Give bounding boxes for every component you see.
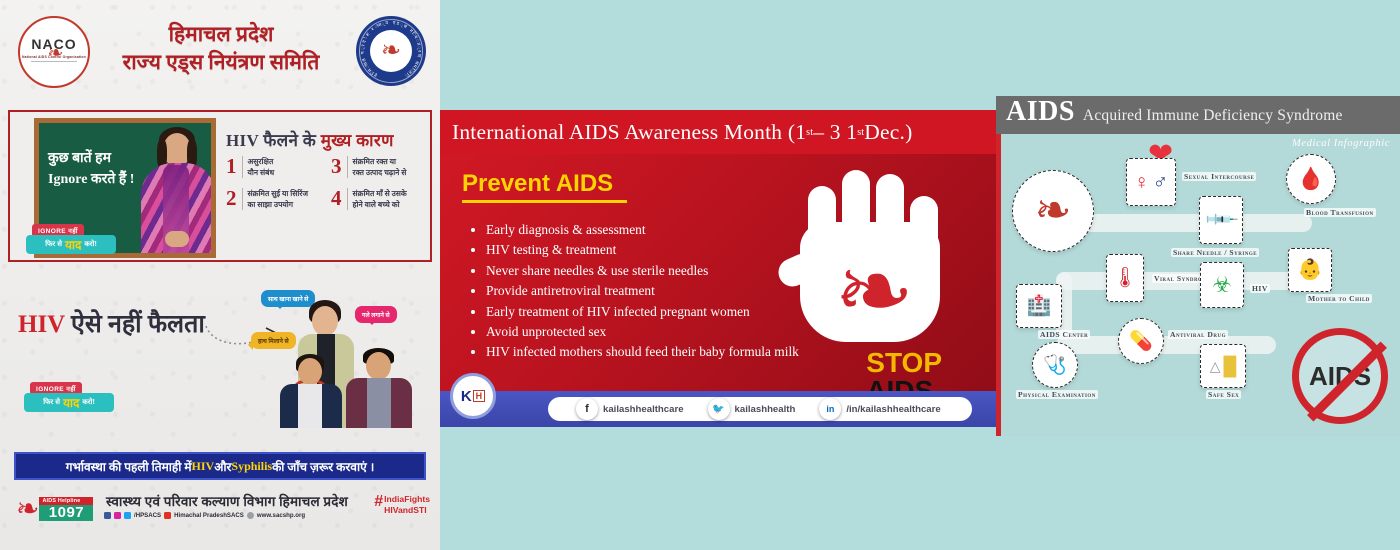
hashtag-line1: IndiaFights [384,494,430,504]
thermometer-icon: 🌡 [1106,254,1144,302]
right-poster-header: AIDS Acquired Immune Deficiency Syndrome [996,96,1400,134]
website-icon[interactable] [247,512,254,519]
label-safe-sex: Safe Sex [1206,390,1241,399]
person-boy-left [280,356,342,428]
kh-logo-k: K [461,388,472,405]
ignore-badge-2-pre: फिर से [43,398,60,407]
center-poster-title: International AIDS Awareness Month (1st … [440,110,1000,154]
myth-bubble-yellow: हाथ मिलाने से [251,332,296,349]
label-blood-transfusion: Blood Transfusion [1304,208,1376,217]
fetus-icon: 👶 [1288,248,1332,292]
red-edge-accent [996,96,1001,436]
node-physical-examination: 🩺 Physical Examination [1032,342,1078,388]
prevent-aids-heading: Prevent AIDS [462,170,627,203]
linkedin-icon[interactable]: in [819,398,841,420]
poster-collage: NACO ❧ National AIDS Control Organisatio… [0,0,1400,550]
boy-right-head [366,352,391,380]
list-item-text: संक्रमित रक्त या रक्त उत्पाद चढ़ाने से [353,156,407,178]
hiv-causes-title-highlight: मुख्य कारण [321,131,394,150]
helpline-ribbon-icon: ❧ [16,495,39,523]
ignore-badge-1-bottom: फिर से याद करो! [26,235,116,254]
list-item-divider [242,188,243,210]
stethoscope-icon: 🩺 [1032,342,1078,388]
boy-right-shirt [367,378,391,428]
linkedin-handle: /in/kailashhealthcare [846,404,940,415]
hashtag-line2: HIVandSTI [384,505,427,515]
aids-helpline-logo: ❧ AIDS Helpline 1097 [16,490,96,528]
label-share-needle: Share Needle / Syringe [1171,248,1259,257]
hiv-causes-list: 1 असुरक्षित यौन संबंध 3 संक्रमित रक्त या… [226,156,430,210]
boy-left-shirt [298,384,322,428]
center-poster-prevent-aids: International AIDS Awareness Month (1st … [440,110,1000,427]
hiv-myths-title-red: HIV [18,311,65,338]
center-poster-footer: f kailashhealthcare 🐦 kailashhealth in /… [440,391,1000,427]
center-title-a: International AIDS Awareness Month (1 [452,120,806,145]
node-safe-sex: △ █ Safe Sex [1200,344,1246,388]
label-physical-examination: Physical Examination [1016,390,1098,399]
instagram-icon[interactable] [114,512,121,519]
aids-subheading: Acquired Immune Deficiency Syndrome [1083,107,1343,125]
node-blood-transfusion: 🩸 Blood Transfusion [1286,154,1336,204]
list-item-text: असुरक्षित यौन संबंध [248,156,275,178]
kailash-healthcare-logo: KH [450,373,496,419]
list-item: 4 संक्रमित माँ से उसके होने वाले बच्चे क… [331,188,430,210]
ignore-badge-2: IGNORE नहीं फिर से याद करो! [24,382,116,414]
social-links-pill: f kailashhealthcare 🐦 kailashhealth in /… [548,397,972,421]
hiv-myths-block: HIV ऐसे नहीं फैलता साथ खाना खाने से हाथ … [8,270,432,442]
hiv-causes-title-pre: HIV फैलने के [226,131,321,150]
hiv-myths-title-rest: ऐसे नहीं फैलता [65,311,205,338]
pills-icon: 💊 [1118,318,1164,364]
twitter-handle: kailashhealth [735,404,796,415]
teacher-hands [165,231,189,247]
youtube-icon[interactable] [164,512,171,519]
list-item-divider [347,156,348,178]
facebook-icon[interactable] [104,512,111,519]
facebook-icon[interactable]: f [576,398,598,420]
ignore-badge-1-big: याद [65,236,81,253]
label-aids-center: AIDS Center [1038,330,1090,339]
twitter-icon[interactable]: 🐦 [708,398,730,420]
naco-logo-footnote [54,64,55,67]
ignore-badge-1-post: करो! [84,240,96,249]
department-name: स्वास्थ्य एवं परिवार कल्याण विभाग हिमाचल… [104,492,350,510]
list-item: 1 असुरक्षित यौन संबंध [226,156,325,178]
strip-text-mid: और [214,458,231,475]
male-female-icon: ♀ ♂ [1126,158,1176,206]
list-item-text: संक्रमित सुई या सिरिंज का साझा उपयोग [248,188,309,210]
syringe-icon: 💉 [1199,196,1243,244]
connector-path-1 [1082,214,1312,232]
pregnancy-testing-strip: गर्भावस्था की पहली तिमाही में HIV और Syp… [14,452,426,480]
helpline-number: 1097 [39,505,93,522]
right-poster-aids-infographic: AIDS Acquired Immune Deficiency Syndrome… [996,96,1400,436]
node-antiviral-drug: 💊 Antiviral Drug [1118,318,1164,364]
center-title-sup2: st [857,127,864,138]
stop-hand-graphic: ❧ [782,152,962,352]
page-title: हिमाचल प्रदेश राज्य एड्स नियंत्रण समिति [96,20,346,77]
medical-infographic-label: Medical Infographic [1292,138,1390,149]
myth-bubble-pink: गले लगाने से [355,306,397,323]
seal-caption: हिमाचल प्रदेश राज्य एड्स नियंत्रण समिति [356,16,426,86]
left-poster-header: NACO ❧ National AIDS Control Organisatio… [0,0,440,104]
ignore-badge-2-big: याद [63,394,79,411]
hiv-myths-title: HIV ऐसे नहीं फैलता [18,306,205,340]
strip-text-pre: गर्भावस्था की पहली तिमाही में [66,458,192,475]
strip-text-hiv: HIV [192,459,215,474]
list-item-number: 1 [226,156,237,178]
list-item-divider [242,156,243,178]
condom-icon: △ █ [1200,344,1246,388]
social-handle-hpsacs: /HPSACS [134,512,161,519]
node-aids-ribbon: ❧ [1012,170,1094,252]
node-hiv: ☣ HIV [1200,262,1244,308]
list-item-number: 4 [331,188,342,210]
ignore-badge-1-pre: फिर से [45,240,62,249]
teacher-photo [135,127,216,258]
social-handles-row: /HPSACS Himachal PradeshSACS www.sacshp.… [104,512,354,519]
girl-head [312,306,338,336]
label-sexual-intercourse: Sexual Intercourse [1182,172,1256,181]
hospital-icon: 🏥 [1016,284,1062,328]
stop-word: STOP [866,349,942,377]
hash-symbol-icon: # [374,494,383,509]
kh-logo-h: H [473,390,486,402]
facebook-handle: kailashhealthcare [603,404,684,415]
list-item: 3 संक्रमित रक्त या रक्त उत्पाद चढ़ाने से [331,156,430,178]
label-antiviral-drug: Antiviral Drug [1168,330,1228,339]
left-poster-footer: ❧ AIDS Helpline 1097 स्वास्थ्य एवं परिवा… [0,486,440,550]
hiv-causes-block: कुछ बातें हम Ignore करते हैं ! IGNORE नह… [8,110,432,262]
list-item-divider [347,188,348,210]
center-title-c: Dec.) [864,120,912,145]
helpline-box: AIDS Helpline 1097 [39,497,93,522]
node-aids-center: 🏥 AIDS Center [1016,284,1062,328]
list-item-number: 3 [331,156,342,178]
virus-icon: ☣ [1200,262,1244,308]
hpsacs-seal: ❧ हिमाचल प्रदेश राज्य एड्स नियंत्रण समित… [356,16,426,86]
node-share-needle: 💉 Share Needle / Syringe [1199,196,1243,244]
node-mother-to-child: 👶 Mother to Child [1288,248,1332,292]
no-aids-prohibition-sign: AIDS [1292,328,1388,424]
red-ribbon-icon: ❧ [834,244,914,340]
ignore-badge-1: IGNORE नहीं फिर से याद करो! [26,224,118,256]
ignore-badge-2-post: करो! [82,398,94,407]
person-boy-right [346,348,412,428]
ignore-badge-2-bottom: फिर से याद करो! [24,393,114,412]
twitter-icon[interactable] [124,512,131,519]
list-item: 2 संक्रमित सुई या सिरिंज का साझा उपयोग [226,188,325,210]
naco-logo: NACO ❧ National AIDS Control Organisatio… [18,16,90,88]
hiv-causes-title: HIV फैलने के मुख्य कारण [226,128,394,151]
red-ribbon-icon: ❧ [1012,170,1094,252]
aids-heading: AIDS [1006,96,1075,128]
left-poster-hpsacs: NACO ❧ National AIDS Control Organisatio… [0,0,440,550]
page-title-line2: राज्य एड्स नियंत्रण समिति [96,48,346,76]
social-handle-youtube: Himachal PradeshSACS [174,512,244,519]
blood-bag-icon: 🩸 [1286,154,1336,204]
website-url[interactable]: www.sacshp.org [257,512,305,519]
label-mother-to-child: Mother to Child [1306,294,1372,303]
list-item-number: 2 [226,188,237,210]
strip-text-syphilis: Syphilis [231,459,272,474]
page-title-line1: हिमाचल प्रदेश [96,20,346,48]
list-item-text: संक्रमित माँ से उसके होने वाले बच्चे को [353,188,407,210]
node-viral-syndrome: 🌡 Viral Syndrome [1106,254,1144,302]
boy-left-head [298,358,322,385]
hashtag-block: # IndiaFights HIVandSTI [374,494,430,515]
naco-ribbon-icon: ❧ [48,44,61,64]
node-sexual-intercourse: ♀ ♂ Sexual Intercourse [1126,158,1176,206]
strip-text-post: की जाँच ज़रूर करवाएं । [272,458,374,475]
center-title-b: – 3 1 [813,120,857,145]
label-hiv: HIV [1250,284,1270,293]
